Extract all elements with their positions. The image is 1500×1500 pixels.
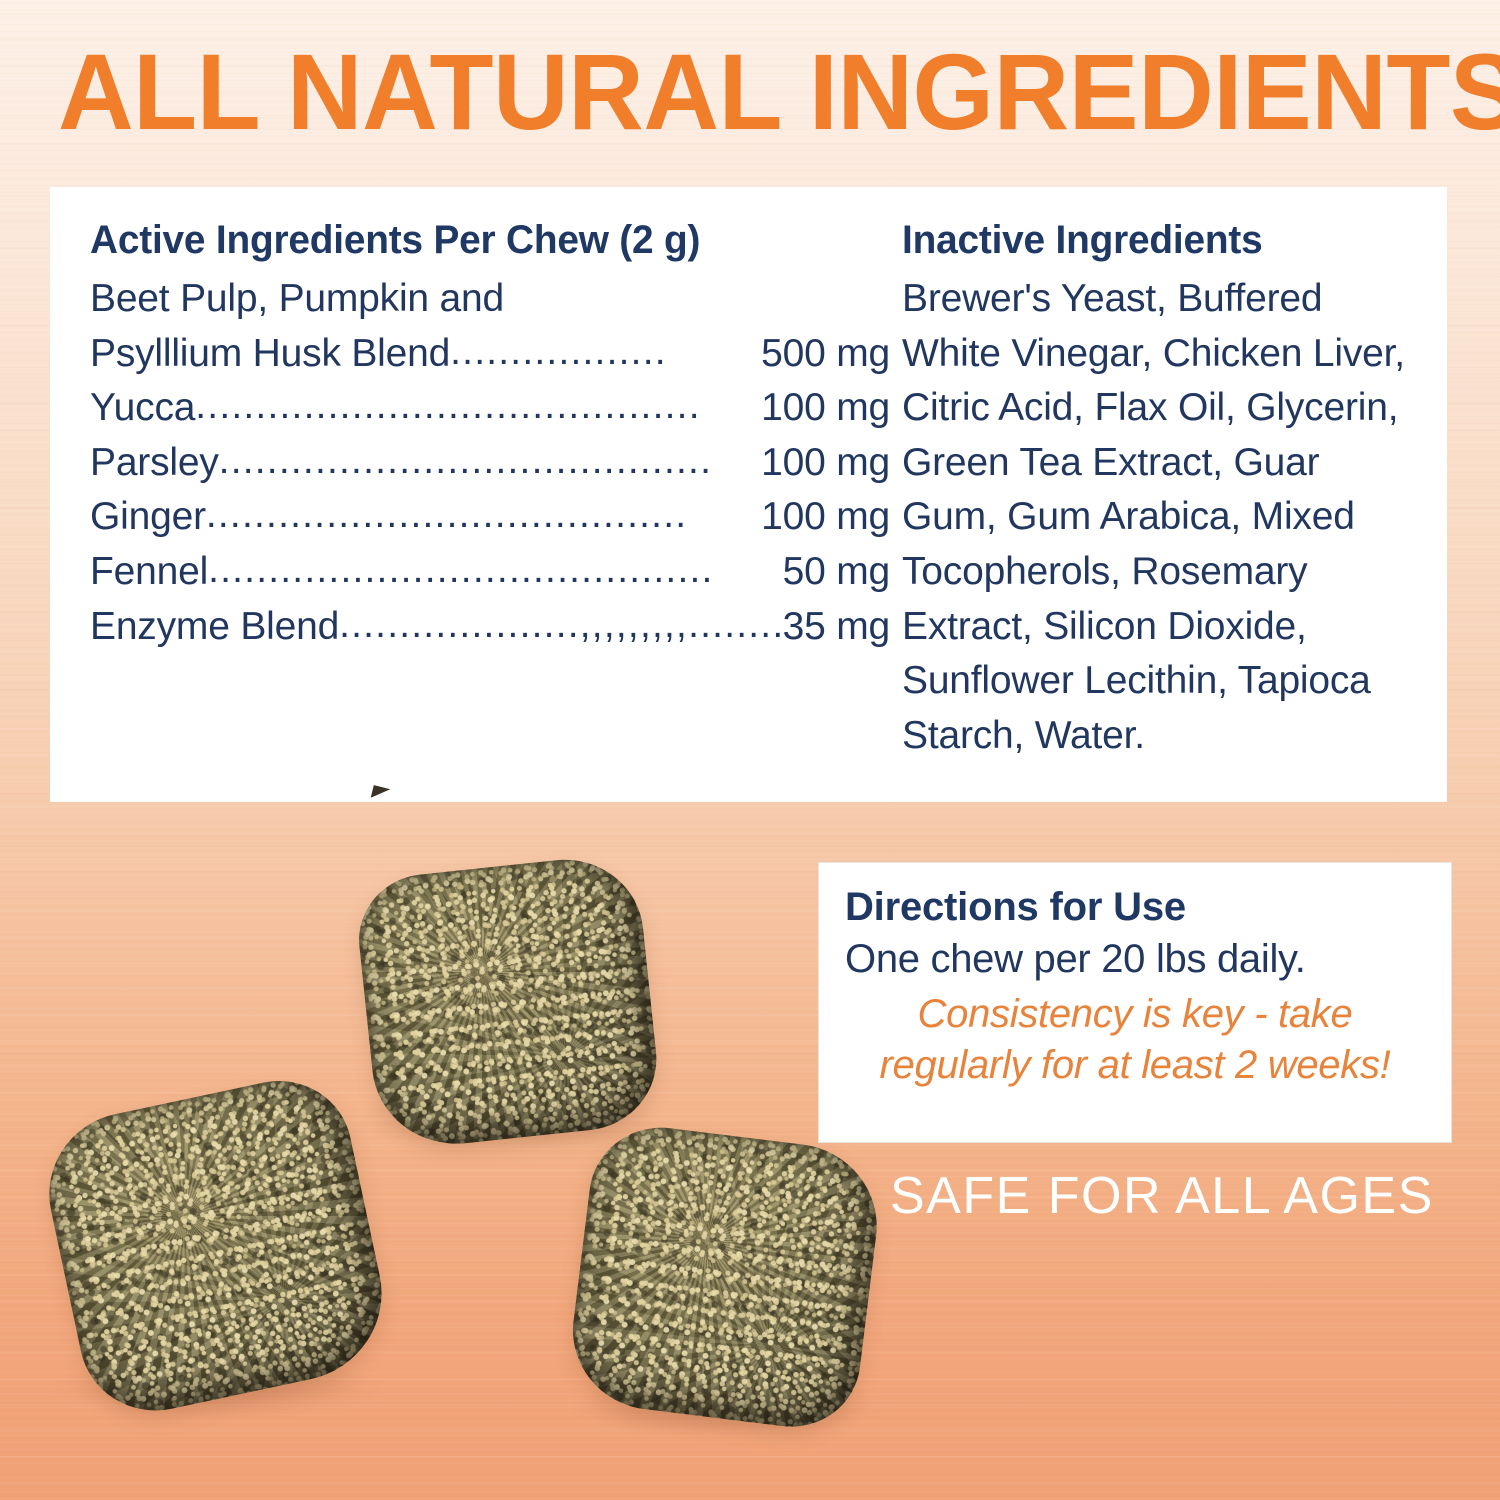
ingredients-panel: Active Ingredients Per Chew (2 g) Beet P… [50, 187, 1447, 802]
dot-leader: .................. [450, 325, 759, 380]
directions-dosage-text: One chew per 20 lbs daily. [845, 935, 1425, 983]
ingredient-row: Yucca ..................................… [90, 381, 890, 436]
ingredient-name: Ginger [90, 490, 206, 545]
dog-chew-treat [564, 1119, 886, 1434]
safe-for-all-ages-badge: SAFE FOR ALL AGES [890, 1166, 1434, 1226]
ingredient-row: Ginger .................................… [90, 490, 890, 545]
page-title: ALL NATURAL INGREDIENTS [58, 38, 1416, 146]
inactive-ingredients-column: Inactive Ingredients Brewer's Yeast, Buf… [890, 217, 1411, 802]
ingredient-amount: 500 mg [759, 327, 890, 382]
active-ingredients-list: Psylllium Husk Blend .................. … [90, 327, 890, 655]
product-infographic: ALL NATURAL INGREDIENTS Active Ingredien… [0, 0, 1500, 1500]
ingredient-name: Psylllium Husk Blend [90, 327, 450, 382]
directions-heading: Directions for Use [845, 885, 1425, 929]
ingredient-row: Fennel .................................… [90, 545, 890, 600]
inactive-ingredients-heading: Inactive Ingredients [902, 217, 1396, 263]
ingredient-row: Parsley ................................… [90, 436, 890, 491]
directions-panel: Directions for Use One chew per 20 lbs d… [818, 862, 1452, 1143]
ingredient-amount: 100 mg [759, 490, 890, 545]
dog-chew-treat [353, 852, 664, 1152]
ingredient-amount: 100 mg [759, 436, 890, 491]
ingredient-amount: 100 mg [759, 381, 890, 436]
ingredient-name: Parsley [90, 436, 219, 491]
ingredient-row: Enzyme Blend ....................,,,,,,,… [90, 600, 890, 655]
active-ingredients-column: Active Ingredients Per Chew (2 g) Beet P… [90, 217, 890, 802]
ingredient-row: Psylllium Husk Blend .................. … [90, 327, 890, 382]
dot-leader: ........................................ [206, 488, 759, 543]
ingredient-name: Yucca [90, 381, 195, 436]
ingredient-amount: 50 mg [781, 545, 890, 600]
active-ingredients-heading: Active Ingredients Per Chew (2 g) [90, 217, 866, 263]
ingredient-amount: 35 mg [781, 600, 890, 655]
dot-leader: ........................................… [219, 434, 759, 489]
active-ingredient-first-line: Beet Pulp, Pumpkin and [90, 272, 890, 327]
inactive-ingredients-text: Brewer's Yeast, Buffered White Vinegar, … [902, 272, 1411, 763]
dot-leader: ........................................… [195, 379, 759, 434]
ingredient-name: Fennel [90, 545, 208, 600]
directions-emphasis-text: Consistency is key - take regularly for … [845, 989, 1425, 1091]
dog-chew-treat [34, 1067, 398, 1424]
ingredient-name: Enzyme Blend [90, 600, 339, 655]
dot-leader: ........................................… [208, 543, 781, 598]
dot-leader: ....................,,,,,,,,,........ [339, 598, 781, 653]
